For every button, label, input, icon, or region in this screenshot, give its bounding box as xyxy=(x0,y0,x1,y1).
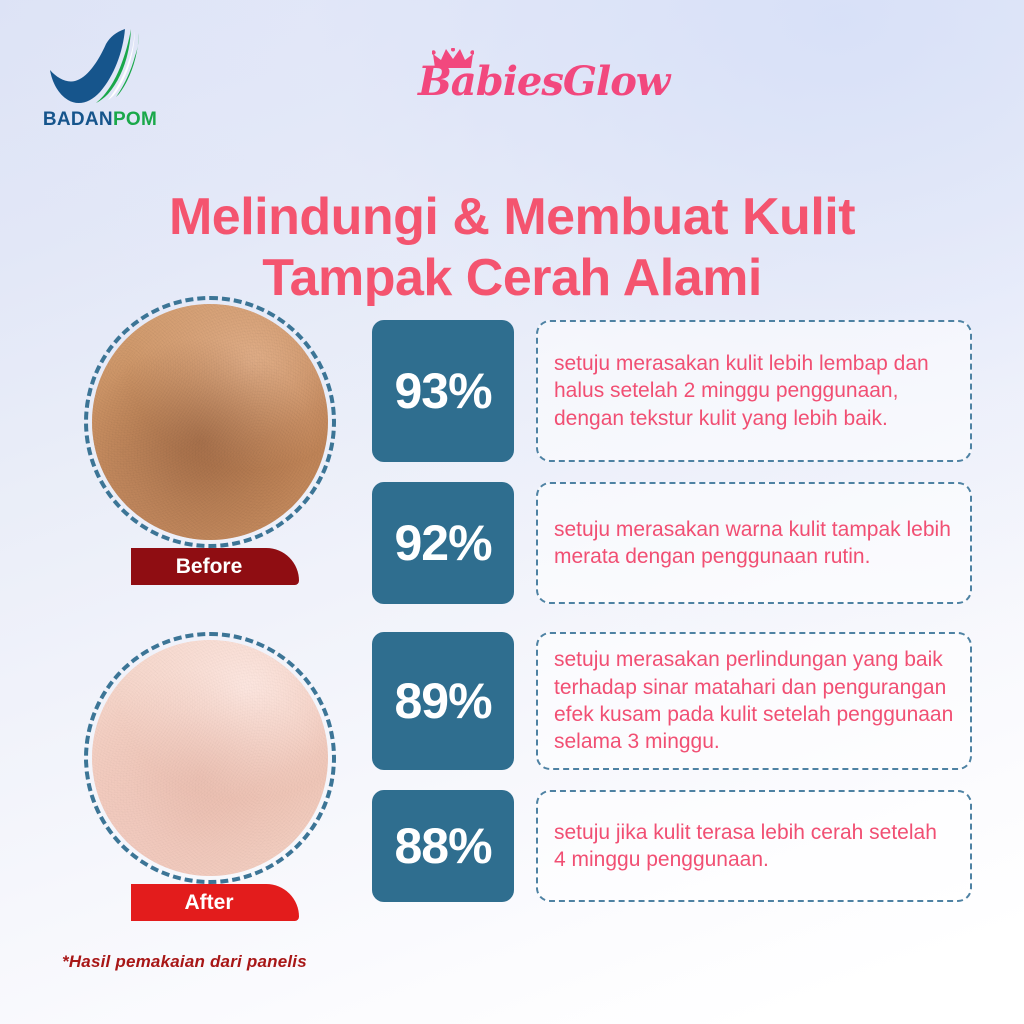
after-skin-grain xyxy=(92,640,328,876)
title-line-1: Melindungi & Membuat Kulit xyxy=(62,187,962,248)
after-label-ribbon: After xyxy=(131,884,299,921)
infographic-poster: BADANPOM BabiesGlow Melindungi & Membuat… xyxy=(0,0,1024,1024)
before-label-ribbon: Before xyxy=(131,548,299,585)
before-skin-grain xyxy=(92,304,328,540)
stat-percent-badge: 89% xyxy=(372,632,514,770)
stat-description: setuju jika kulit terasa lebih cerah set… xyxy=(536,790,972,902)
bpom-word-badan: BADAN xyxy=(43,109,113,130)
stat-row: 92% setuju merasakan warna kulit tampak … xyxy=(372,482,972,604)
bpom-word-pom: POM xyxy=(113,109,157,130)
babiesglow-wordmark: BabiesGlow xyxy=(418,62,618,102)
stat-row: 88% setuju jika kulit terasa lebih cerah… xyxy=(372,790,972,902)
stat-percent-badge: 93% xyxy=(372,320,514,462)
footnote: *Hasil pemakaian dari panelis xyxy=(62,952,307,972)
stat-description: setuju merasakan kulit lebih lembap dan … xyxy=(536,320,972,462)
babiesglow-logo: BabiesGlow xyxy=(418,48,618,122)
before-comparison: Before xyxy=(84,296,352,596)
badan-pom-logo: BADANPOM xyxy=(30,26,170,138)
stat-percent-badge: 92% xyxy=(372,482,514,604)
before-skin-photo xyxy=(92,304,328,540)
stat-description: setuju merasakan warna kulit tampak lebi… xyxy=(536,482,972,604)
stat-description: setuju merasakan perlindungan yang baik … xyxy=(536,632,972,770)
stat-row: 93% setuju merasakan kulit lebih lembap … xyxy=(372,320,972,462)
after-skin-photo xyxy=(92,640,328,876)
bpom-shield-icon xyxy=(30,26,170,108)
bpom-wordmark: BADANPOM xyxy=(30,110,170,129)
after-comparison: After xyxy=(84,632,352,932)
page-title: Melindungi & Membuat Kulit Tampak Cerah … xyxy=(62,187,962,309)
stat-row: 89% setuju merasakan perlindungan yang b… xyxy=(372,632,972,770)
stat-percent-badge: 88% xyxy=(372,790,514,902)
